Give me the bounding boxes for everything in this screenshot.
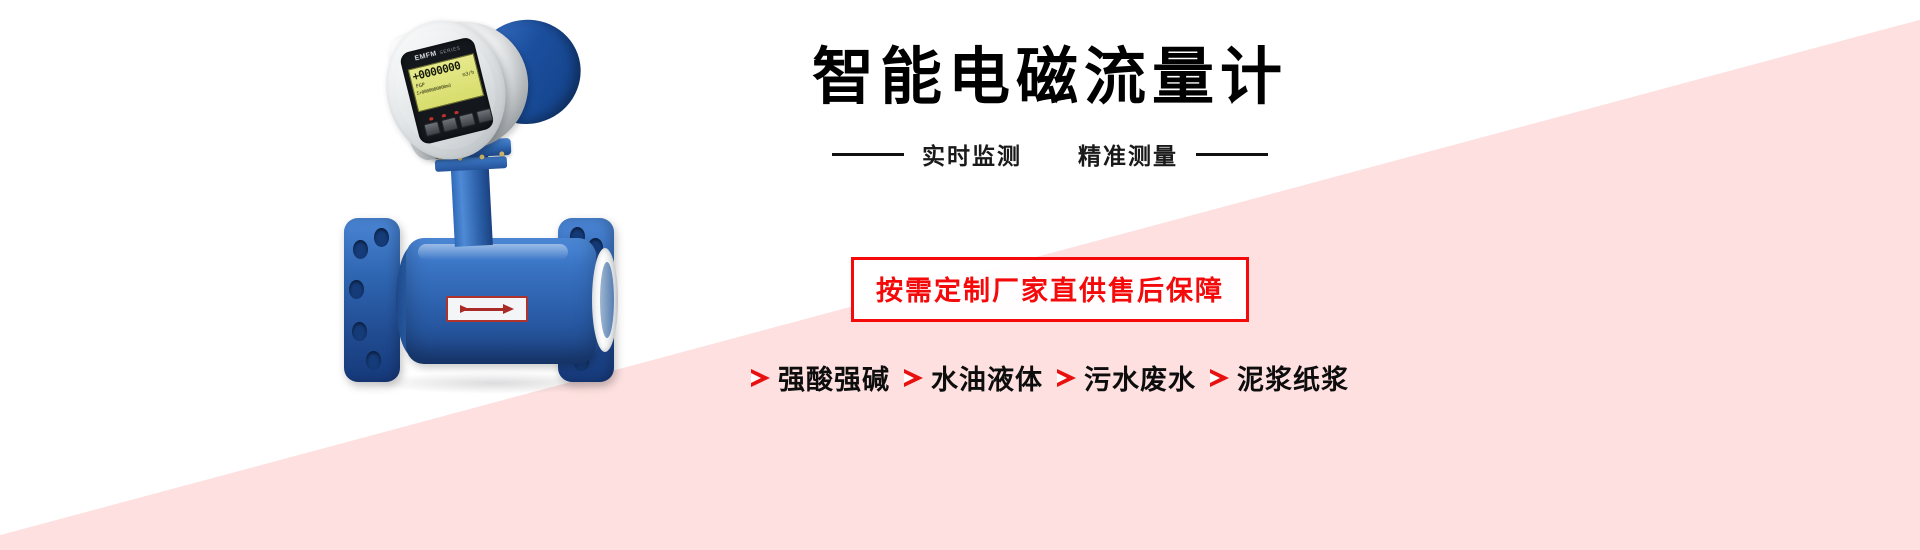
promo-item-3: 售后保障 — [1108, 276, 1224, 306]
arrow-right-icon — [1057, 369, 1076, 387]
feature-item: 泥浆纸浆 — [1210, 358, 1349, 397]
feature-label: 泥浆纸浆 — [1237, 358, 1349, 397]
feature-label: 水油液体 — [931, 358, 1043, 397]
page-title: 智能电磁流量计 — [600, 44, 1500, 112]
flange-bolt-hole — [374, 228, 389, 247]
feature-item: 水油液体 — [904, 358, 1043, 397]
arrow-head — [503, 304, 514, 314]
brand-name: EMFM — [414, 50, 438, 62]
subtitle-row: 实时监测 精准测量 — [600, 137, 1500, 171]
flange-bolt-hole — [353, 240, 368, 259]
flange-left — [344, 218, 400, 382]
led-indicator — [454, 111, 459, 115]
subtitle-rule-right — [1196, 153, 1268, 156]
arrow-right-icon — [1210, 369, 1229, 387]
feature-item: 强酸强碱 — [751, 358, 890, 397]
arrow-right-icon — [751, 369, 770, 387]
application-feature-list: 强酸强碱 水油液体 污水废水 泥浆纸浆 — [600, 358, 1500, 397]
keypad-button[interactable] — [476, 108, 494, 124]
feature-label: 污水废水 — [1084, 358, 1196, 397]
transmitter-faceplate: EMFMSERIES +0000000 FGP m3/h Σ+000000000… — [399, 36, 495, 146]
promo-item-2: 厂家直供 — [992, 276, 1108, 306]
arrow-shaft — [460, 308, 504, 311]
promo-item-1: 按需定制 — [876, 276, 992, 306]
promo-badge-box: 按需定制厂家直供售后保障 — [851, 257, 1249, 322]
arrow-right-icon — [904, 369, 923, 387]
flange-bolt-hole — [352, 322, 367, 341]
flow-direction-plate — [446, 296, 528, 322]
led-indicator — [442, 114, 447, 118]
feature-label: 强酸强碱 — [778, 358, 890, 397]
lcd-display: +0000000 FGP m3/h Σ+0000000000m3 — [408, 53, 485, 112]
flow-direction-arrow-icon — [460, 305, 514, 313]
subtitle-rule-left — [832, 153, 904, 156]
keypad-button[interactable] — [458, 112, 476, 128]
keypad-button[interactable] — [441, 116, 459, 132]
led-indicator — [429, 117, 434, 121]
flange-bolt-hole — [366, 351, 381, 370]
feature-item: 污水废水 — [1057, 358, 1196, 397]
subtitle-right-text: 精准测量 — [1078, 137, 1178, 171]
brand-model: SERIES — [439, 45, 461, 56]
flange-bolt-hole — [349, 280, 364, 299]
promo-banner: EMFMSERIES +0000000 FGP m3/h Σ+000000000… — [0, 0, 1920, 550]
transmitter-head: EMFMSERIES +0000000 FGP m3/h Σ+000000000… — [363, 0, 593, 180]
subtitle-left-text: 实时监测 — [922, 137, 1022, 171]
banner-text-block: 智能电磁流量计 实时监测 精准测量 按需定制厂家直供售后保障 强酸强碱 水油液体… — [600, 0, 1500, 550]
keypad-button[interactable] — [423, 121, 441, 137]
